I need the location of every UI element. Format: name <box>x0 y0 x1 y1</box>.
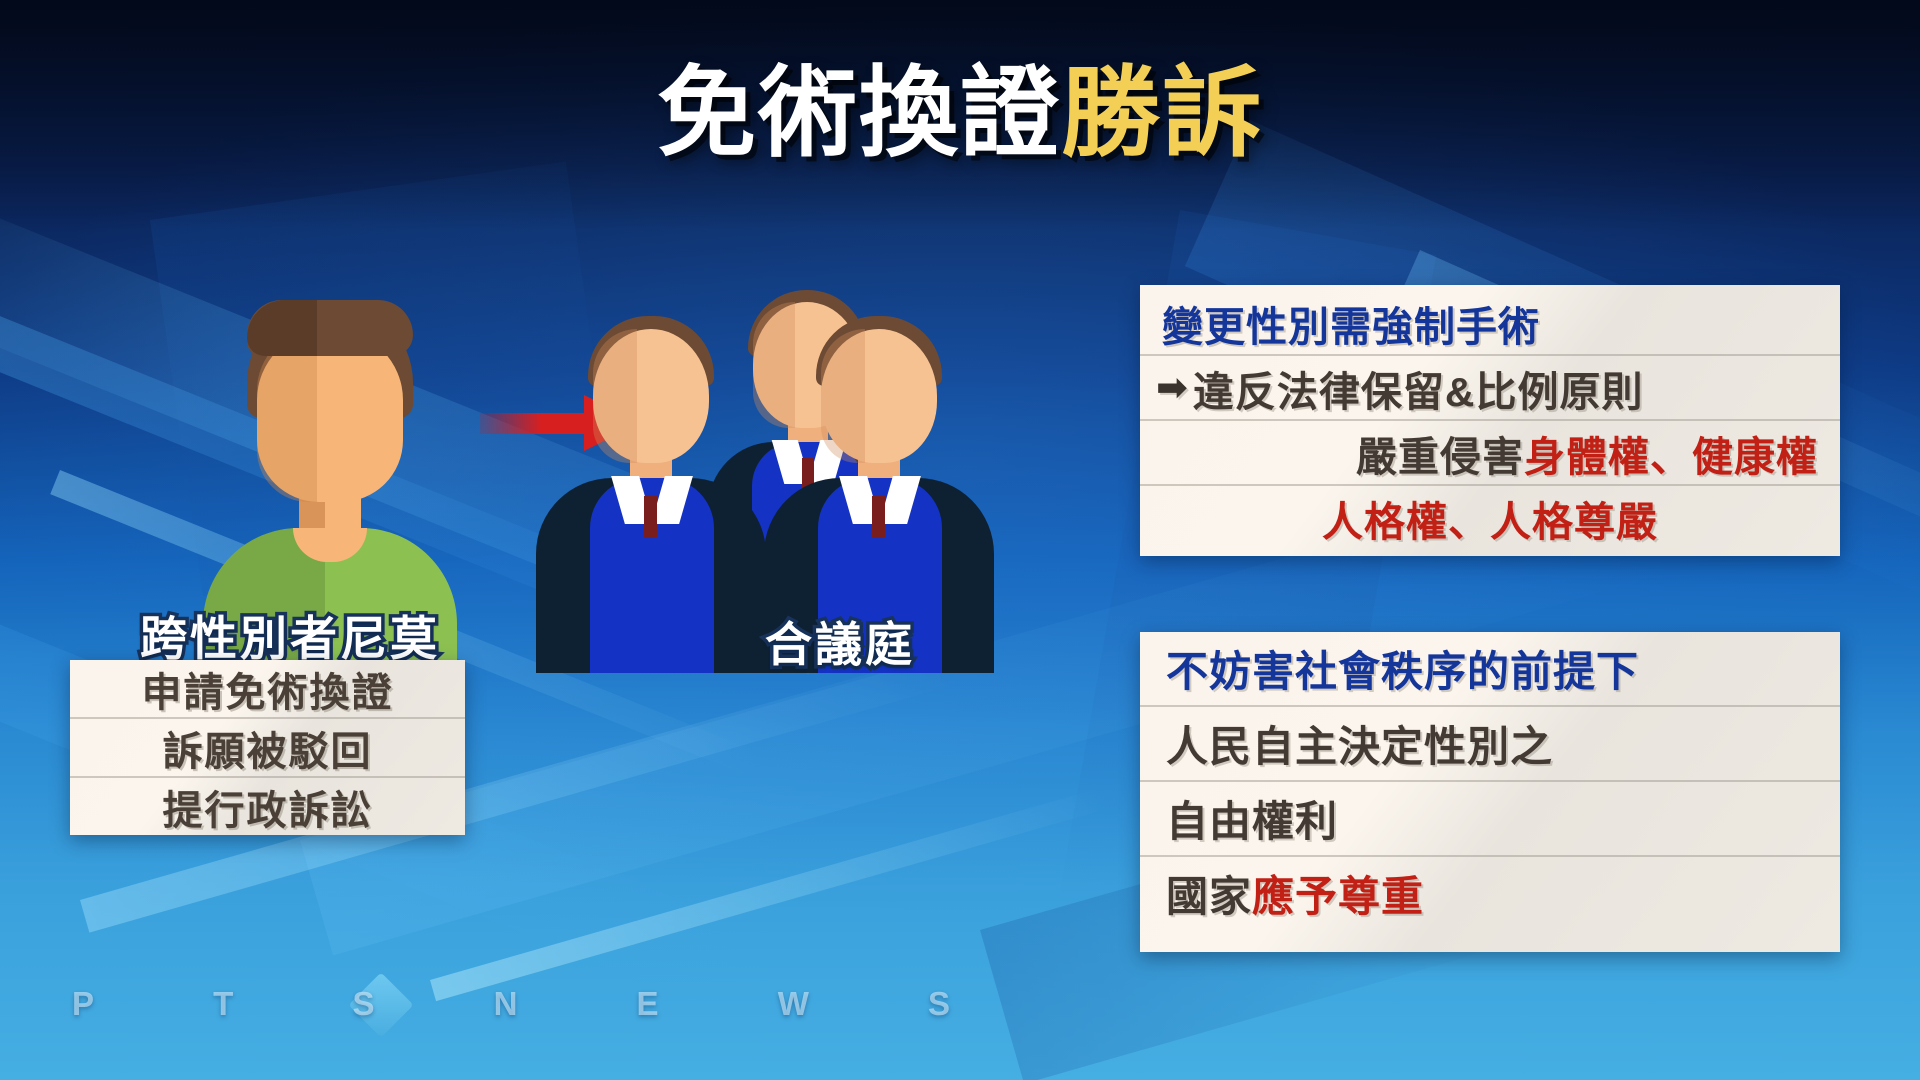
title-highlight: 勝訴 <box>1061 57 1263 168</box>
transgender-person-avatar <box>195 300 465 600</box>
ruling-heading-label: 變更性別需強制手術 <box>1162 293 1540 353</box>
rights-heading-row: 不妨害社會秩序的前提下 <box>1140 632 1840 707</box>
ruling-heading-row: 變更性別需強制手術 <box>1140 291 1840 356</box>
ruling-row-dignity-label: 人格權、人格尊嚴 <box>1322 488 1658 548</box>
ruling-row-infringement-prefix: 嚴重侵害 <box>1356 423 1524 483</box>
tie-shape <box>872 496 885 538</box>
ruling-panel-card: 變更性別需強制手術 ➡ 違反法律保留&比例原則 嚴重侵害身體權、健康權 人格權、… <box>1140 285 1840 556</box>
list-item-label: 提行政訴訟 <box>163 778 373 836</box>
ruling-row-infringement-rights: 身體權、健康權 <box>1524 423 1818 483</box>
head-shadow <box>821 329 865 463</box>
head-shadow <box>753 302 795 428</box>
list-item-label: 申請免術換證 <box>142 660 394 718</box>
watermark-letter: T <box>213 985 235 1023</box>
watermark-letter: S <box>352 985 376 1023</box>
watermark-letter: N <box>494 985 520 1023</box>
ruling-row-infringement: 嚴重侵害身體權、健康權 <box>1140 421 1840 486</box>
tie-shape <box>644 496 657 538</box>
watermark-letter: S <box>928 985 952 1023</box>
arrow-shaft <box>480 413 592 434</box>
title-main: 免術換證 <box>657 57 1061 168</box>
arrow-right-glyph-icon: ➡ <box>1156 365 1189 410</box>
head-shadow <box>593 329 637 463</box>
watermark-letter: P <box>72 985 96 1023</box>
page-title: 免術換證勝訴 <box>0 58 1920 169</box>
ruling-row-dignity: 人格權、人格尊嚴 <box>1140 486 1840 549</box>
rights-row-self-determination: 人民自主決定性別之 <box>1140 707 1840 782</box>
rights-row-state-emphasis: 應予尊重 <box>1252 863 1424 924</box>
ruling-row-violation-label: 違反法律保留&比例原則 <box>1193 358 1644 418</box>
watermark-letter: E <box>637 985 661 1023</box>
rights-row-state-respect: 國家應予尊重 <box>1140 857 1840 930</box>
rights-heading-label: 不妨害社會秩序的前提下 <box>1166 638 1639 699</box>
rights-row-state-prefix: 國家 <box>1166 863 1252 924</box>
judges-panel-illustration <box>590 290 1020 610</box>
broadcast-graphic: P T S N E W S 免術換證勝訴 <box>0 0 1920 1080</box>
network-watermark: P T S N E W S <box>72 985 952 1023</box>
rights-row-freedom: 自由權利 <box>1140 782 1840 857</box>
list-item: 訴願被駁回 <box>70 719 465 778</box>
caption-collegiate-bench: 合議庭 <box>765 606 915 675</box>
list-item: 提行政訴訟 <box>70 778 465 835</box>
rights-row-self-determination-label: 人民自主決定性別之 <box>1166 713 1553 774</box>
watermark-letter: W <box>778 985 811 1023</box>
rights-row-freedom-label: 自由權利 <box>1166 788 1338 849</box>
list-item-label: 訴願被駁回 <box>163 719 373 777</box>
ruling-row-violation: ➡ 違反法律保留&比例原則 <box>1140 356 1840 421</box>
list-item: 申請免術換證 <box>70 660 465 719</box>
case-timeline-card: 申請免術換證 訴願被駁回 提行政訴訟 <box>70 660 465 835</box>
rights-panel-card: 不妨害社會秩序的前提下 人民自主決定性別之 自由權利 國家應予尊重 <box>1140 632 1840 952</box>
